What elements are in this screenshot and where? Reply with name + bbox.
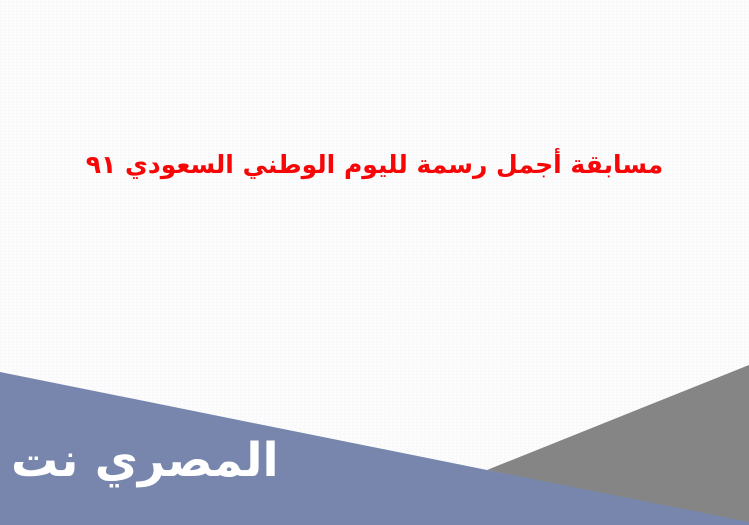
article-header-image: مسابقة أجمل رسمة لليوم الوطني السعودي ٩١… <box>0 0 749 525</box>
site-watermark: المصري نت <box>11 437 279 484</box>
